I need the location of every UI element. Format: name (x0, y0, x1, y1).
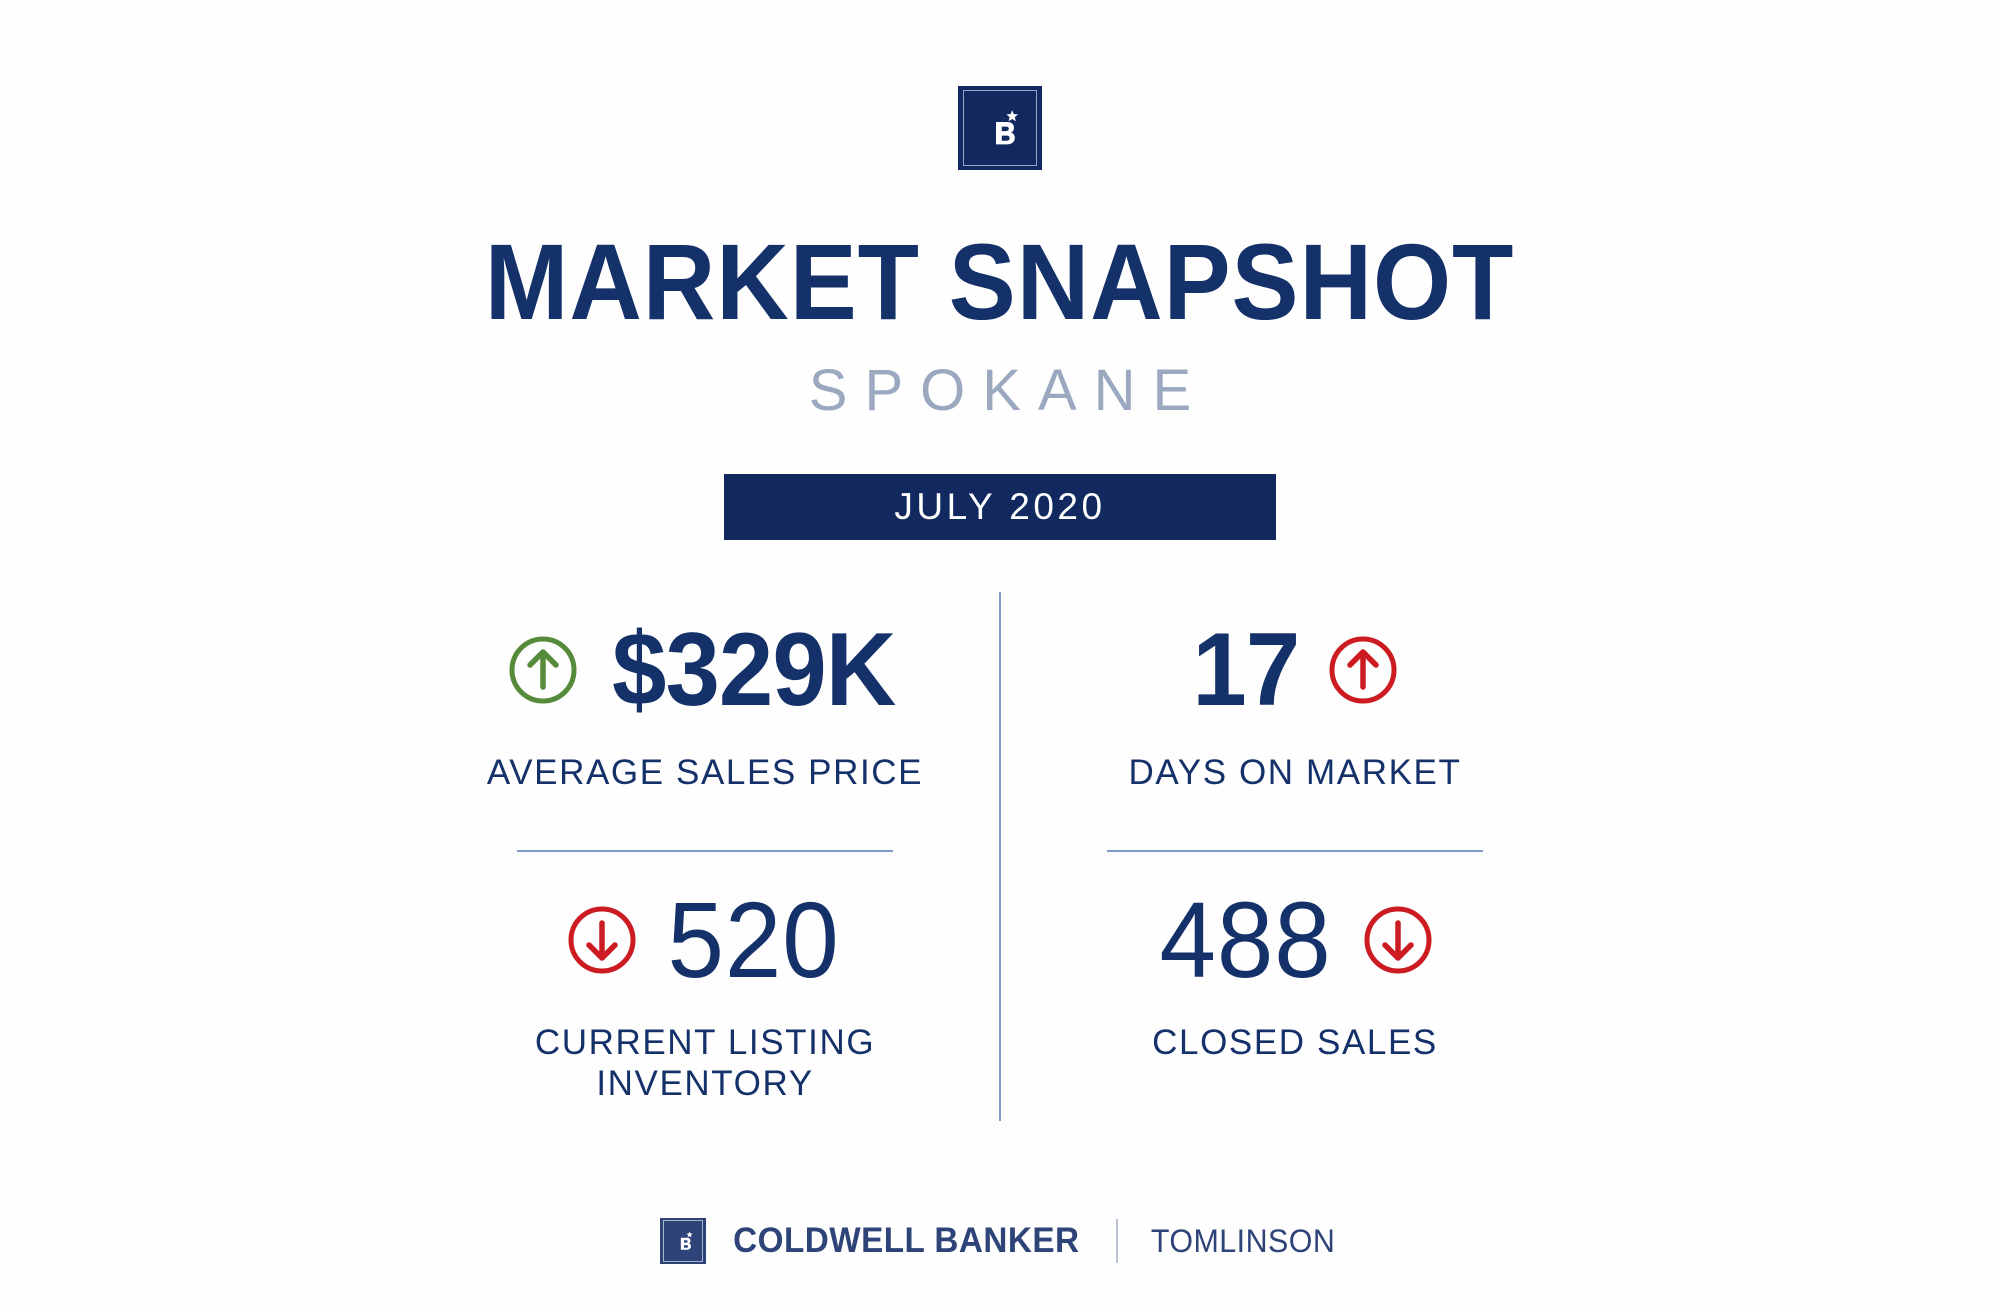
stat-label: DAYS ON MARKET (1129, 752, 1462, 793)
logo-inner-frame (963, 90, 1037, 166)
footer-affiliate-name: TOMLINSON (1151, 1223, 1335, 1260)
page-title: MARKET SNAPSHOT (485, 228, 1515, 336)
coldwell-banker-cb-star-logo (660, 1218, 706, 1264)
stat-label: CLOSED SALES (1152, 1022, 1438, 1063)
footer-separator (1116, 1219, 1118, 1263)
stats-column-right: 17 DAYS ON MARKET 488 (1000, 592, 1590, 1105)
stat-closed-sales: 488 CLOSED SALES (1000, 852, 1590, 1063)
stat-value-row: 520 (564, 884, 845, 996)
stats-grid: $329K AVERAGE SALES PRICE 520 CURRENT LI… (410, 592, 1590, 1105)
footer-branding: COLDWELL BANKER TOMLINSON (0, 1218, 2000, 1264)
stat-value-row: $329K (505, 614, 904, 726)
stat-value-row: 17 (1189, 614, 1401, 726)
footer-logo-inner-frame (663, 1220, 703, 1262)
cb-monogram-icon (972, 100, 1028, 156)
stats-column-left: $329K AVERAGE SALES PRICE 520 CURRENT LI… (410, 592, 1000, 1105)
stat-average-sales-price: $329K AVERAGE SALES PRICE (410, 592, 1000, 810)
stat-days-on-market: 17 DAYS ON MARKET (1000, 592, 1590, 810)
stat-label: AVERAGE SALES PRICE (487, 752, 923, 793)
date-banner: JULY 2020 (724, 474, 1276, 540)
arrow-down-circle-icon (1360, 902, 1436, 978)
stat-current-listing-inventory: 520 CURRENT LISTING INVENTORY (410, 852, 1000, 1105)
stat-label: CURRENT LISTING INVENTORY (535, 1022, 875, 1105)
arrow-up-circle-icon (505, 632, 581, 708)
stat-value: 520 (668, 886, 840, 994)
arrow-up-circle-icon (1325, 632, 1401, 708)
page-subtitle-city: SPOKANE (792, 362, 1208, 420)
cb-monogram-icon (668, 1226, 698, 1256)
footer-brand-name: COLDWELL BANKER (733, 1221, 1079, 1261)
stat-value: 17 (1193, 618, 1300, 722)
stat-value-row: 488 (1154, 884, 1435, 996)
market-snapshot-infographic: MARKET SNAPSHOT SPOKANE JULY 2020 $329K … (0, 0, 2000, 1310)
stat-value: 488 (1160, 886, 1332, 994)
coldwell-banker-cb-star-logo (958, 86, 1042, 170)
arrow-down-circle-icon (564, 902, 640, 978)
stat-value: $329K (612, 618, 895, 722)
